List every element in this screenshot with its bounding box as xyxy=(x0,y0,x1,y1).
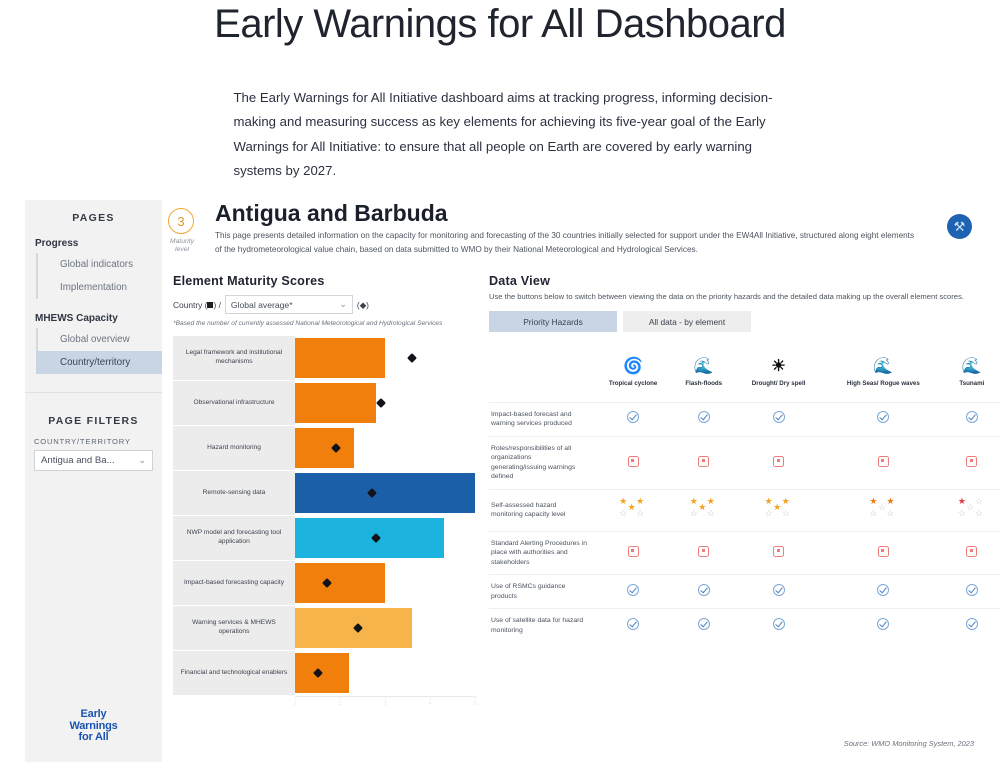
matrix-cell[interactable] xyxy=(734,609,823,643)
check-circle-icon xyxy=(698,618,710,630)
star-empty-icon: ☆ xyxy=(886,509,894,518)
matrix-cell[interactable] xyxy=(823,402,944,436)
priority-hazards-button[interactable]: Priority Hazards xyxy=(489,311,617,332)
matrix-cell[interactable] xyxy=(823,436,944,489)
bar-row: Hazard monitoring xyxy=(173,426,475,470)
matrix-row: Use of RSMCs guidance products xyxy=(489,575,1000,609)
filter-country-label: COUNTRY/TERRITORY xyxy=(25,437,162,450)
star-filled-icon: ★ xyxy=(958,497,966,506)
cross-box-icon xyxy=(773,546,784,557)
star-empty-icon: ☆ xyxy=(966,503,974,512)
bar-category-label: NWP model and forecasting tool applicati… xyxy=(173,516,295,560)
matrix-cell[interactable] xyxy=(593,531,673,575)
matrix-cell[interactable]: ★☆☆☆☆ xyxy=(944,489,1000,531)
star-empty-icon: ☆ xyxy=(707,509,715,518)
matrix-cell[interactable] xyxy=(593,575,673,609)
tsunami-icon: 🌊 xyxy=(944,359,1000,375)
matrix-cell[interactable] xyxy=(734,531,823,575)
data-view-title: Data View xyxy=(489,274,1000,288)
matrix-cell[interactable] xyxy=(823,531,944,575)
matrix-row-label: Use of RSMCs guidance products xyxy=(489,575,593,609)
cross-box-icon xyxy=(698,546,709,557)
bar-category-label: Financial and technological enablers xyxy=(173,651,295,695)
bar-fill[interactable] xyxy=(295,563,385,603)
matrix-cell[interactable]: ★★★☆☆ xyxy=(734,489,823,531)
star-rating: ★★☆☆☆ xyxy=(866,497,900,519)
matrix-cell[interactable] xyxy=(593,402,673,436)
axis-tick: 4 xyxy=(428,697,432,707)
matrix-cell[interactable] xyxy=(734,402,823,436)
star-rating: ★★★☆☆ xyxy=(762,497,796,519)
star-empty-icon: ☆ xyxy=(958,509,966,518)
matrix-cell[interactable] xyxy=(673,436,734,489)
cross-box-icon xyxy=(698,456,709,467)
hazard-column-header: ☀Drought/ Dry spell xyxy=(734,346,823,402)
matrix-row-label: Use of satellite data for hazard monitor… xyxy=(489,609,593,643)
matrix-cell[interactable] xyxy=(734,575,823,609)
star-filled-icon: ★ xyxy=(628,503,636,512)
sidebar-group-mhews-capacity: MHEWS Capacity xyxy=(25,309,162,328)
star-rating: ★★★☆☆ xyxy=(687,497,721,519)
check-circle-icon xyxy=(627,411,639,423)
chart-legend-controls: Country () / Global average* ⌄ (◆) xyxy=(173,295,475,314)
matrix-cell[interactable] xyxy=(593,609,673,643)
hazard-column-header: 🌊High Seas/ Rogue waves xyxy=(823,346,944,402)
cyclone-icon: 🌀 xyxy=(593,359,673,375)
sidebar-filters-title: PAGE FILTERS xyxy=(25,392,162,437)
maturity-level-caption: Maturity level xyxy=(162,238,202,255)
chevron-down-icon: ⌄ xyxy=(138,455,146,466)
bar-track xyxy=(295,426,475,470)
source-note: Source: WMO Monitoring System, 2023 xyxy=(844,739,974,748)
cross-box-icon xyxy=(878,456,889,467)
bar-track xyxy=(295,381,475,425)
check-circle-icon xyxy=(698,584,710,596)
axis-tick: 5 xyxy=(473,697,477,707)
star-empty-icon: ☆ xyxy=(765,509,773,518)
logo-line-3: for All xyxy=(25,732,162,744)
flash-flood-icon: 🌊 xyxy=(673,359,734,375)
bar-row: Observational infrastructure xyxy=(173,381,475,425)
tools-icon[interactable]: ⚒ xyxy=(947,214,972,239)
matrix-cell[interactable] xyxy=(823,575,944,609)
star-rating: ★☆☆☆☆ xyxy=(955,497,989,519)
element-maturity-panel: Element Maturity Scores Country () / Glo… xyxy=(173,274,475,714)
check-circle-icon xyxy=(627,618,639,630)
bar-category-label: Remote-sensing data xyxy=(173,471,295,515)
matrix-row-label: Roles/responsibilities of all organizati… xyxy=(489,436,593,489)
bar-fill[interactable] xyxy=(295,518,444,558)
bar-track xyxy=(295,336,475,380)
check-circle-icon xyxy=(773,618,785,630)
star-rating: ★★★☆☆ xyxy=(616,497,650,519)
cross-box-icon xyxy=(628,456,639,467)
matrix-cell[interactable]: ★★☆☆☆ xyxy=(823,489,944,531)
hazard-header-row: 🌀Tropical cyclone🌊Flash-floods☀Drought/ … xyxy=(489,346,1000,402)
chevron-down-icon: ⌄ xyxy=(339,299,347,310)
page-title: Early Warnings for All Dashboard xyxy=(0,0,1000,46)
country-filter-dropdown[interactable]: Antigua and Ba... ⌄ xyxy=(34,450,153,471)
matrix-row-label: Standard Alerting Procedures in place wi… xyxy=(489,531,593,575)
sidebar-item-global-indicators[interactable]: Global indicators xyxy=(36,253,162,276)
matrix-cell[interactable] xyxy=(673,531,734,575)
bar-track xyxy=(295,471,475,515)
matrix-cell[interactable] xyxy=(823,609,944,643)
star-filled-icon: ★ xyxy=(690,497,698,506)
star-empty-icon: ☆ xyxy=(636,509,644,518)
average-marker-legend: (◆) xyxy=(357,300,369,310)
star-empty-icon: ☆ xyxy=(975,497,983,506)
star-empty-icon: ☆ xyxy=(619,509,627,518)
matrix-row: Roles/responsibilities of all organizati… xyxy=(489,436,1000,489)
check-circle-icon xyxy=(966,411,978,423)
sidebar-item-implementation[interactable]: Implementation xyxy=(36,276,162,299)
bar-category-label: Warning services & MHEWS operations xyxy=(173,606,295,650)
star-filled-icon: ★ xyxy=(886,497,894,506)
bar-fill[interactable] xyxy=(295,338,385,378)
bar-row: Legal framework and institutional mechan… xyxy=(173,336,475,380)
bar-row: Remote-sensing data xyxy=(173,471,475,515)
hazard-column-label: High Seas/ Rogue waves xyxy=(823,380,944,388)
intro-paragraph: The Early Warnings for All Initiative da… xyxy=(234,86,779,184)
axis-tick: 3 xyxy=(383,697,387,707)
bar-category-label: Observational infrastructure xyxy=(173,381,295,425)
hazard-column-header: 🌀Tropical cyclone xyxy=(593,346,673,402)
check-circle-icon xyxy=(877,584,889,596)
check-circle-icon xyxy=(966,584,978,596)
average-marker-diamond xyxy=(376,398,386,408)
data-view-subtitle: Use the buttons below to switch between … xyxy=(489,291,1000,302)
maturity-level-badge: 3 xyxy=(168,208,194,234)
average-marker-diamond xyxy=(407,353,417,363)
bar-row: Financial and technological enablers xyxy=(173,651,475,695)
bar-category-label: Impact-based forecasting capacity xyxy=(173,561,295,605)
chart-footnote: *Based the number of currently assessed … xyxy=(173,319,443,328)
matrix-row-label: Impact-based forecast and warning servic… xyxy=(489,402,593,436)
cross-box-icon xyxy=(966,456,977,467)
star-filled-icon: ★ xyxy=(619,497,627,506)
star-empty-icon: ☆ xyxy=(975,509,983,518)
check-circle-icon xyxy=(877,411,889,423)
matrix-cell[interactable] xyxy=(944,609,1000,643)
star-filled-icon: ★ xyxy=(636,497,644,506)
star-empty-icon: ☆ xyxy=(869,509,877,518)
axis-tick: 2 xyxy=(338,697,342,707)
star-filled-icon: ★ xyxy=(869,497,877,506)
bar-track xyxy=(295,561,475,605)
check-circle-icon xyxy=(698,411,710,423)
bar-fill[interactable] xyxy=(295,428,354,468)
hazard-column-label: Tsunami xyxy=(944,380,1000,388)
matrix-cell[interactable] xyxy=(673,575,734,609)
bar-category-label: Hazard monitoring xyxy=(173,426,295,470)
bar-category-label: Legal framework and institutional mechan… xyxy=(173,336,295,380)
country-legend-text: Country () / xyxy=(173,300,221,310)
chart-x-axis: 12345 xyxy=(295,696,475,714)
bar-row: Impact-based forecasting capacity xyxy=(173,561,475,605)
sidebar-item-country-territory[interactable]: Country/territory xyxy=(36,351,162,374)
data-view-panel: Data View Use the buttons below to switc… xyxy=(475,274,1000,714)
drought-icon: ☀ xyxy=(734,359,823,375)
matrix-row: Self-assessed hazard monitoring capacity… xyxy=(489,489,1000,531)
dashboard-body: PAGES Progress Global indicators Impleme… xyxy=(0,200,1000,762)
star-empty-icon: ☆ xyxy=(782,509,790,518)
cross-box-icon xyxy=(878,546,889,557)
check-circle-icon xyxy=(773,411,785,423)
main-content: 3 Maturity level Antigua and Barbuda Thi… xyxy=(162,200,1000,762)
panels-row: Element Maturity Scores Country () / Glo… xyxy=(173,274,1000,714)
ew4all-logo: Early Warnings for All xyxy=(25,709,162,744)
series-dropdown-value: Global average* xyxy=(231,300,293,310)
matrix-cell[interactable] xyxy=(593,436,673,489)
cross-box-icon xyxy=(773,456,784,467)
hazard-column-header: 🌊Tsunami xyxy=(944,346,1000,402)
sidebar-group-progress: Progress xyxy=(25,234,162,253)
bar-track xyxy=(295,651,475,695)
axis-tick: 1 xyxy=(293,697,297,707)
matrix-row: Standard Alerting Procedures in place wi… xyxy=(489,531,1000,575)
bar-fill[interactable] xyxy=(295,383,376,423)
cross-box-icon xyxy=(628,546,639,557)
matrix-row: Use of satellite data for hazard monitor… xyxy=(489,609,1000,643)
star-filled-icon: ★ xyxy=(698,503,706,512)
element-maturity-title: Element Maturity Scores xyxy=(173,274,475,288)
matrix-row: Impact-based forecast and warning servic… xyxy=(489,402,1000,436)
data-view-buttons: Priority Hazards All data - by element xyxy=(489,311,1000,332)
bar-fill[interactable] xyxy=(295,473,475,513)
sidebar-pages-title: PAGES xyxy=(25,200,162,234)
check-circle-icon xyxy=(627,584,639,596)
bar-row: Warning services & MHEWS operations xyxy=(173,606,475,650)
hazard-column-header: 🌊Flash-floods xyxy=(673,346,734,402)
bar-track xyxy=(295,606,475,650)
matrix-cell[interactable]: ★★★☆☆ xyxy=(593,489,673,531)
maturity-bar-chart: Legal framework and institutional mechan… xyxy=(173,336,475,695)
check-circle-icon xyxy=(773,584,785,596)
matrix-row-label: Self-assessed hazard monitoring capacity… xyxy=(489,489,593,531)
matrix-cell[interactable] xyxy=(673,609,734,643)
star-filled-icon: ★ xyxy=(782,497,790,506)
matrix-cell[interactable] xyxy=(944,436,1000,489)
sidebar: PAGES Progress Global indicators Impleme… xyxy=(25,200,162,762)
star-empty-icon: ☆ xyxy=(690,509,698,518)
country-description: This page presents detailed information … xyxy=(215,229,915,256)
check-circle-icon xyxy=(877,618,889,630)
cross-box-icon xyxy=(966,546,977,557)
sidebar-item-global-overview[interactable]: Global overview xyxy=(36,328,162,351)
country-title: Antigua and Barbuda xyxy=(215,200,1000,226)
star-filled-icon: ★ xyxy=(773,503,781,512)
matrix-cell[interactable] xyxy=(673,402,734,436)
matrix-cell[interactable] xyxy=(944,575,1000,609)
bar-row: NWP model and forecasting tool applicati… xyxy=(173,516,475,560)
hazard-matrix: 🌀Tropical cyclone🌊Flash-floods☀Drought/ … xyxy=(489,346,1000,642)
matrix-cell[interactable] xyxy=(734,436,823,489)
country-filter-value: Antigua and Ba... xyxy=(41,455,115,466)
high-seas-icon: 🌊 xyxy=(823,359,944,375)
matrix-cell[interactable] xyxy=(944,531,1000,575)
hazard-column-label: Flash-floods xyxy=(673,380,734,388)
series-dropdown[interactable]: Global average* ⌄ xyxy=(225,295,353,314)
star-filled-icon: ★ xyxy=(707,497,715,506)
intro-section: The Early Warnings for All Initiative da… xyxy=(0,86,1000,184)
bar-track xyxy=(295,516,475,560)
star-filled-icon: ★ xyxy=(765,497,773,506)
all-data-by-element-button[interactable]: All data - by element xyxy=(623,311,751,332)
hazard-column-label: Drought/ Dry spell xyxy=(734,380,823,388)
star-empty-icon: ☆ xyxy=(878,503,886,512)
hazard-column-label: Tropical cyclone xyxy=(593,380,673,388)
check-circle-icon xyxy=(966,618,978,630)
matrix-cell[interactable]: ★★★☆☆ xyxy=(673,489,734,531)
matrix-cell[interactable] xyxy=(944,402,1000,436)
